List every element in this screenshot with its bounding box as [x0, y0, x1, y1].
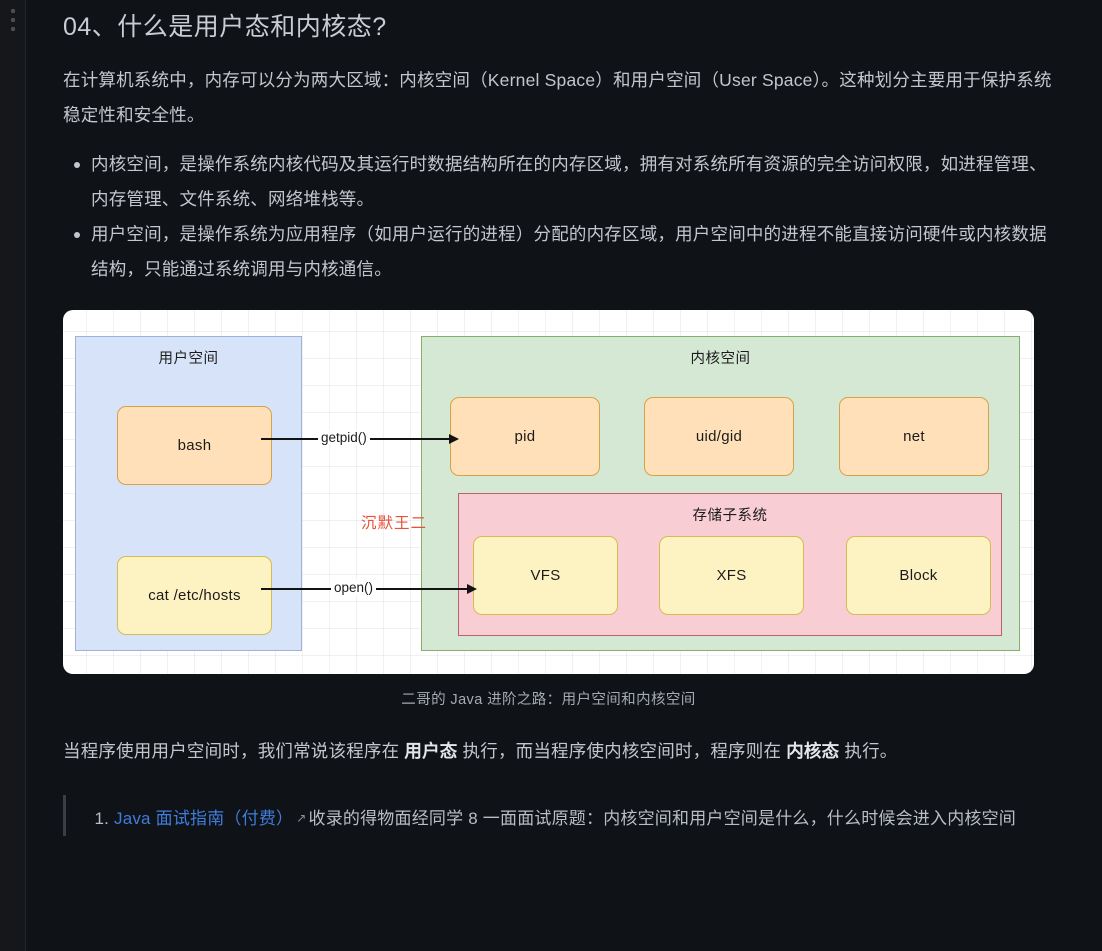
page-root: 04、什么是用户态和内核态? 在计算机系统中，内存可以分为两大区域：内核空间（K…: [0, 0, 1102, 951]
reference-text: 收录的得物面经同学 8 一面面试原题：内核空间和用户空间是什么，什么时候会进入内…: [309, 809, 1017, 828]
external-link-icon: ↗: [293, 811, 308, 825]
node-vfs: VFS: [473, 536, 618, 615]
left-rail: [0, 0, 26, 951]
reference-link-java-interview-guide[interactable]: Java 面试指南（付费）: [114, 809, 293, 828]
summary-part2: 执行，而当程序使内核空间时，程序则在: [457, 741, 786, 761]
panel-user-space: 用户空间 bash cat /etc/hosts: [75, 336, 302, 651]
summary-part1: 当程序使用用户空间时，我们常说该程序在: [63, 741, 404, 761]
node-block: Block: [846, 536, 991, 615]
dot-2: [11, 18, 15, 22]
arrow-getpid-head: [449, 434, 459, 444]
reference-list: Java 面试指南（付费）↗收录的得物面经同学 8 一面面试原题：内核空间和用户…: [86, 801, 1058, 836]
panel-storage-label: 存储子系统: [459, 494, 1001, 525]
summary-part3: 执行。: [839, 741, 897, 761]
intro-paragraph: 在计算机系统中，内存可以分为两大区域：内核空间（Kernel Space）和用户…: [63, 63, 1058, 133]
node-net: net: [839, 397, 989, 476]
node-uid-gid: uid/gid: [644, 397, 794, 476]
diagram-caption: 二哥的 Java 进阶之路：用户空间和内核空间: [63, 688, 1034, 709]
arrow-getpid-label: getpid(): [318, 430, 370, 445]
panel-user-space-label: 用户空间: [76, 337, 301, 368]
arrow-open-head: [467, 584, 477, 594]
page-title: 04、什么是用户态和内核态?: [63, 0, 1058, 44]
summary-bold-user-mode: 用户态: [404, 741, 457, 761]
panel-storage-subsystem: 存储子系统 VFS XFS Block: [458, 493, 1002, 636]
diagram-canvas: 用户空间 bash cat /etc/hosts 内核空间 pid uid/gi…: [63, 310, 1034, 674]
article-content: 04、什么是用户态和内核态? 在计算机系统中，内存可以分为两大区域：内核空间（K…: [26, 0, 1102, 951]
panel-kernel-space-label: 内核空间: [422, 337, 1019, 368]
summary-bold-kernel-mode: 内核态: [786, 741, 839, 761]
node-xfs: XFS: [659, 536, 804, 615]
list-item: Java 面试指南（付费）↗收录的得物面经同学 8 一面面试原题：内核空间和用户…: [114, 801, 1058, 836]
vertical-dots-icon[interactable]: [11, 9, 15, 31]
diagram-layers: 用户空间 bash cat /etc/hosts 内核空间 pid uid/gi…: [63, 310, 1034, 674]
list-item: 用户空间，是操作系统为应用程序（如用户运行的进程）分配的内存区域，用户空间中的进…: [89, 217, 1058, 287]
node-bash: bash: [117, 406, 272, 485]
definition-list: 内核空间，是操作系统内核代码及其运行时数据结构所在的内存区域，拥有对系统所有资源…: [63, 147, 1058, 287]
diagram-figure: 用户空间 bash cat /etc/hosts 内核空间 pid uid/gi…: [63, 310, 1058, 709]
node-pid: pid: [450, 397, 600, 476]
reference-blockquote: Java 面试指南（付费）↗收录的得物面经同学 8 一面面试原题：内核空间和用户…: [63, 795, 1058, 836]
dot-1: [11, 9, 15, 13]
list-item: 内核空间，是操作系统内核代码及其运行时数据结构所在的内存区域，拥有对系统所有资源…: [89, 147, 1058, 217]
arrow-open-label: open(): [331, 580, 376, 595]
diagram-watermark: 沉默王二: [361, 511, 427, 533]
panel-kernel-space: 内核空间 pid uid/gid net 存储子系统 VFS XFS Block: [421, 336, 1020, 651]
dot-3: [11, 27, 15, 31]
summary-paragraph: 当程序使用用户空间时，我们常说该程序在 用户态 执行，而当程序使内核空间时，程序…: [63, 734, 1058, 769]
node-cat-etc-hosts: cat /etc/hosts: [117, 556, 272, 635]
